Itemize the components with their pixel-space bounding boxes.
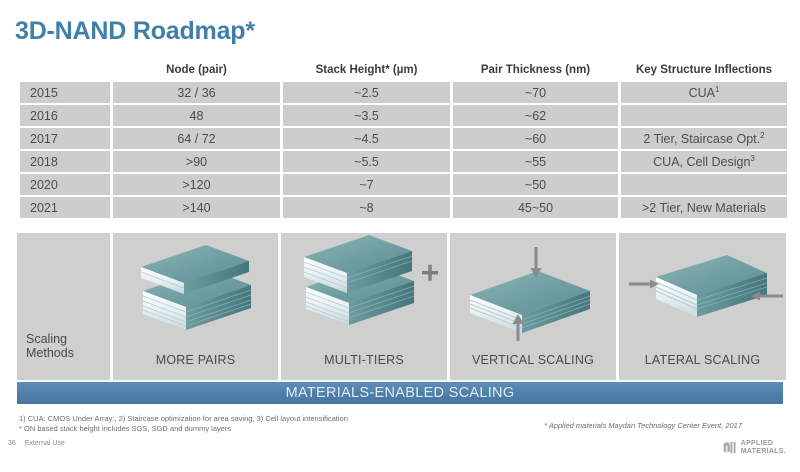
scaling-methods-line2: Methods	[26, 346, 74, 360]
footnote-marker: 2	[760, 130, 764, 139]
logo-line-1: APPLIED	[741, 440, 786, 448]
cell-key-structure: CUA1	[621, 82, 787, 103]
column-header-pair-thickness: Pair Thickness (nm)	[453, 60, 618, 80]
cell-stack-height: ~4.5	[283, 128, 450, 149]
footnote-line-1: 1) CUA: CMOS Under Array:, 2) Staircase …	[19, 414, 348, 423]
cell-node: 48	[113, 105, 280, 126]
cell-year: 2018	[20, 151, 110, 172]
cell-pair-thickness: ~50	[453, 174, 618, 195]
scaling-methods-strip: Scaling Methods	[17, 233, 783, 380]
cell-stack-height: ~3.5	[283, 105, 450, 126]
scaling-methods-line1: Scaling	[26, 332, 74, 346]
slide-canvas: 3D-NAND Roadmap* Node (pair) Stack Heigh…	[0, 0, 800, 472]
materials-enabled-scaling-banner: MATERIALS-ENABLED SCALING	[17, 382, 783, 404]
applied-materials-logo: APPLIED MATERIALS.	[723, 440, 786, 455]
banner-label: MATERIALS-ENABLED SCALING	[17, 382, 783, 404]
cell-node: 32 / 36	[113, 82, 280, 103]
table-row: 2020 >120 ~7 ~50	[20, 174, 787, 195]
column-header-year	[20, 60, 110, 80]
panel-multi-tiers: MULTI-TIERS	[281, 233, 447, 380]
lateral-arrows-slab-icon	[619, 233, 786, 341]
footnote-marker: 3	[750, 153, 754, 162]
scaling-methods-label: Scaling Methods	[26, 332, 74, 360]
footnote-marker: 1	[715, 84, 719, 93]
cell-stack-height: ~8	[283, 197, 450, 218]
cell-key-structure	[621, 105, 787, 126]
panel-scaling-methods: Scaling Methods	[17, 233, 110, 380]
key-structure-text: CUA	[689, 86, 715, 100]
cell-pair-thickness: ~60	[453, 128, 618, 149]
cell-key-structure: >2 Tier, New Materials	[621, 197, 787, 218]
key-structure-text: CUA, Cell Design	[653, 155, 750, 169]
panel-label-multi-tiers: MULTI-TIERS	[281, 353, 447, 367]
panel-lateral-scaling: LATERAL SCALING	[619, 233, 786, 380]
column-header-node: Node (pair)	[113, 60, 280, 80]
cell-pair-thickness: ~70	[453, 82, 618, 103]
stacked-pairs-icon	[113, 233, 278, 341]
cell-year: 2015	[20, 82, 110, 103]
arrow-right-icon	[629, 280, 659, 289]
cell-stack-height: ~5.5	[283, 151, 450, 172]
applied-materials-mark-icon	[723, 440, 738, 455]
panel-more-pairs: MORE PAIRS	[113, 233, 278, 380]
cell-key-structure: CUA, Cell Design3	[621, 151, 787, 172]
page-number: 36	[8, 440, 16, 447]
footnote-source: * Applied materials Maydan Technology Ce…	[544, 421, 742, 430]
cell-year: 2020	[20, 174, 110, 195]
page-classification: External Use	[25, 440, 65, 447]
cell-year: 2021	[20, 197, 110, 218]
cell-node: >120	[113, 174, 280, 195]
table-header-row: Node (pair) Stack Height* (µm) Pair Thic…	[20, 60, 787, 80]
page-footer: 36External Use	[8, 440, 65, 447]
roadmap-table: Node (pair) Stack Height* (µm) Pair Thic…	[17, 58, 790, 220]
key-structure-text: 2 Tier, Staircase Opt.	[643, 132, 760, 146]
table-row: 2017 64 / 72 ~4.5 ~60 2 Tier, Staircase …	[20, 128, 787, 149]
cell-node: 64 / 72	[113, 128, 280, 149]
cell-node: >90	[113, 151, 280, 172]
multi-tier-stack-icon	[281, 233, 447, 341]
cell-year: 2017	[20, 128, 110, 149]
cell-pair-thickness: ~62	[453, 105, 618, 126]
vertical-arrows-slab-icon	[450, 233, 616, 341]
cell-pair-thickness: ~55	[453, 151, 618, 172]
table-row: 2018 >90 ~5.5 ~55 CUA, Cell Design3	[20, 151, 787, 172]
table-row: 2021 >140 ~8 45~50 >2 Tier, New Material…	[20, 197, 787, 218]
footnote-line-2: * ON based stack height includes SGS, SG…	[19, 424, 231, 433]
panel-label-vertical-scaling: VERTICAL SCALING	[450, 353, 616, 367]
table-row: 2015 32 / 36 ~2.5 ~70 CUA1	[20, 82, 787, 103]
table-row: 2016 48 ~3.5 ~62	[20, 105, 787, 126]
cell-key-structure: 2 Tier, Staircase Opt.2	[621, 128, 787, 149]
column-header-stack-height: Stack Height* (µm)	[283, 60, 450, 80]
plus-symbol	[422, 265, 438, 281]
cell-key-structure	[621, 174, 787, 195]
cell-stack-height: ~2.5	[283, 82, 450, 103]
panel-label-more-pairs: MORE PAIRS	[113, 353, 278, 367]
key-structure-text: >2 Tier, New Materials	[642, 201, 766, 215]
logo-wordmark: APPLIED MATERIALS.	[741, 440, 786, 455]
cell-stack-height: ~7	[283, 174, 450, 195]
logo-line-2: MATERIALS.	[741, 448, 786, 456]
cell-node: >140	[113, 197, 280, 218]
panel-label-lateral-scaling: LATERAL SCALING	[619, 353, 786, 367]
column-header-key-structure: Key Structure Inflections	[621, 60, 787, 80]
cell-pair-thickness: 45~50	[453, 197, 618, 218]
page-title: 3D-NAND Roadmap*	[15, 17, 255, 46]
panel-vertical-scaling: VERTICAL SCALING	[450, 233, 616, 380]
cell-year: 2016	[20, 105, 110, 126]
